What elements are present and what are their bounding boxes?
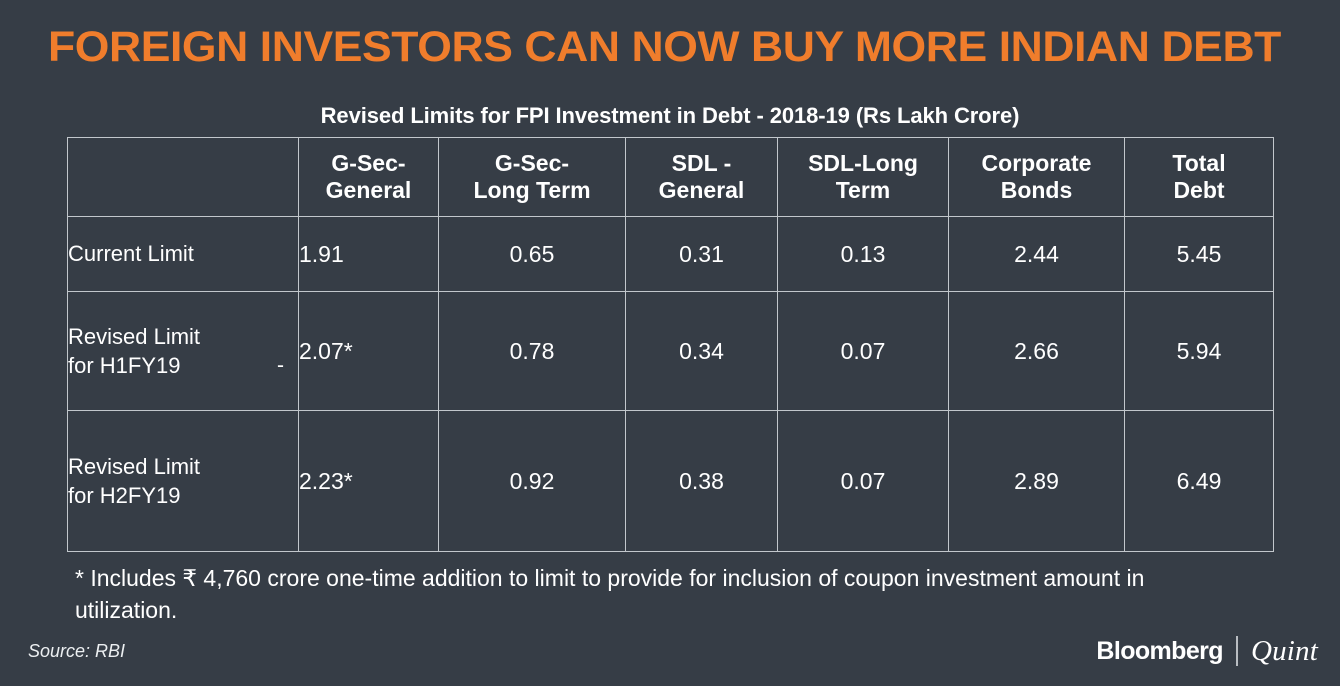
column-header-line1: SDL -: [672, 150, 732, 176]
cell-current-corporate-bonds: 2.44: [949, 217, 1125, 292]
cell-h2-total-debt: 6.49: [1125, 411, 1274, 552]
logo-bloomberg-text: Bloomberg: [1096, 637, 1223, 666]
cell-h2-sdl-general: 0.38: [626, 411, 778, 552]
column-header-gsec-long-term: G-Sec- Long Term: [439, 138, 626, 217]
row-label-line1: Current Limit: [68, 239, 298, 268]
cell-h2-corporate-bonds: 2.89: [949, 411, 1125, 552]
column-header-line1: Corporate: [982, 150, 1092, 176]
column-header-sdl-long-term: SDL-Long Term: [778, 138, 949, 217]
row-label-trailing-dash: -: [277, 352, 284, 380]
cell-h1-total-debt: 5.94: [1125, 292, 1274, 411]
logo-quint-text: Quint: [1251, 635, 1318, 668]
column-header-line2: Term: [836, 177, 891, 203]
source-attribution: Source: RBI: [28, 641, 125, 662]
cell-current-sdl-general: 0.31: [626, 217, 778, 292]
cell-h1-corporate-bonds: 2.66: [949, 292, 1125, 411]
table-corner-cell: [68, 138, 299, 217]
table-row: Revised Limit for H1FY19 - 2.07* 0.78 0.…: [68, 292, 1274, 411]
cell-h1-gsec-general: 2.07*: [299, 292, 439, 411]
row-label-revised-h1fy19: Revised Limit for H1FY19 -: [68, 292, 299, 411]
table-header-row: G-Sec- General G-Sec- Long Term SDL - Ge…: [68, 138, 1274, 217]
row-label-current-limit: Current Limit: [68, 217, 299, 292]
row-label-line1: Revised Limit: [68, 322, 298, 351]
cell-h2-gsec-long-term: 0.92: [439, 411, 626, 552]
column-header-line2: Debt: [1173, 177, 1224, 203]
cell-h2-gsec-general: 2.23*: [299, 411, 439, 552]
column-header-line2: Bonds: [1001, 177, 1073, 203]
table-row: Revised Limit for H2FY19 2.23* 0.92 0.38…: [68, 411, 1274, 552]
cell-h1-sdl-general: 0.34: [626, 292, 778, 411]
column-header-line1: G-Sec-: [331, 150, 405, 176]
column-header-line2: Long Term: [473, 177, 590, 203]
row-label-line1: Revised Limit: [68, 452, 298, 481]
column-header-line1: G-Sec-: [495, 150, 569, 176]
cell-current-gsec-long-term: 0.65: [439, 217, 626, 292]
cell-current-gsec-general: 1.91: [299, 217, 439, 292]
fpi-limits-table: G-Sec- General G-Sec- Long Term SDL - Ge…: [67, 137, 1274, 552]
column-header-corporate-bonds: Corporate Bonds: [949, 138, 1125, 217]
row-label-revised-h2fy19: Revised Limit for H2FY19: [68, 411, 299, 552]
cell-h1-gsec-long-term: 0.78: [439, 292, 626, 411]
column-header-line1: Total: [1172, 150, 1225, 176]
bloomberg-quint-logo: Bloomberg Quint: [1096, 634, 1318, 668]
column-header-line2: General: [659, 177, 745, 203]
cell-h1-sdl-long-term: 0.07: [778, 292, 949, 411]
table-row: Current Limit 1.91 0.65 0.31 0.13 2.44 5…: [68, 217, 1274, 292]
page-title: FOREIGN INVESTORS CAN NOW BUY MORE INDIA…: [48, 26, 1340, 69]
column-header-line1: SDL-Long: [808, 150, 918, 176]
row-label-line2: for H2FY19: [68, 481, 298, 510]
footnote: * Includes ₹ 4,760 crore one-time additi…: [75, 563, 1195, 626]
column-header-line2: General: [326, 177, 412, 203]
chart-subtitle: Revised Limits for FPI Investment in Deb…: [0, 103, 1340, 129]
cell-current-sdl-long-term: 0.13: [778, 217, 949, 292]
column-header-total-debt: Total Debt: [1125, 138, 1274, 217]
column-header-gsec-general: G-Sec- General: [299, 138, 439, 217]
cell-current-total-debt: 5.45: [1125, 217, 1274, 292]
row-label-line2: for H1FY19: [68, 351, 298, 380]
logo-divider: [1236, 636, 1238, 666]
cell-h2-sdl-long-term: 0.07: [778, 411, 949, 552]
column-header-sdl-general: SDL - General: [626, 138, 778, 217]
